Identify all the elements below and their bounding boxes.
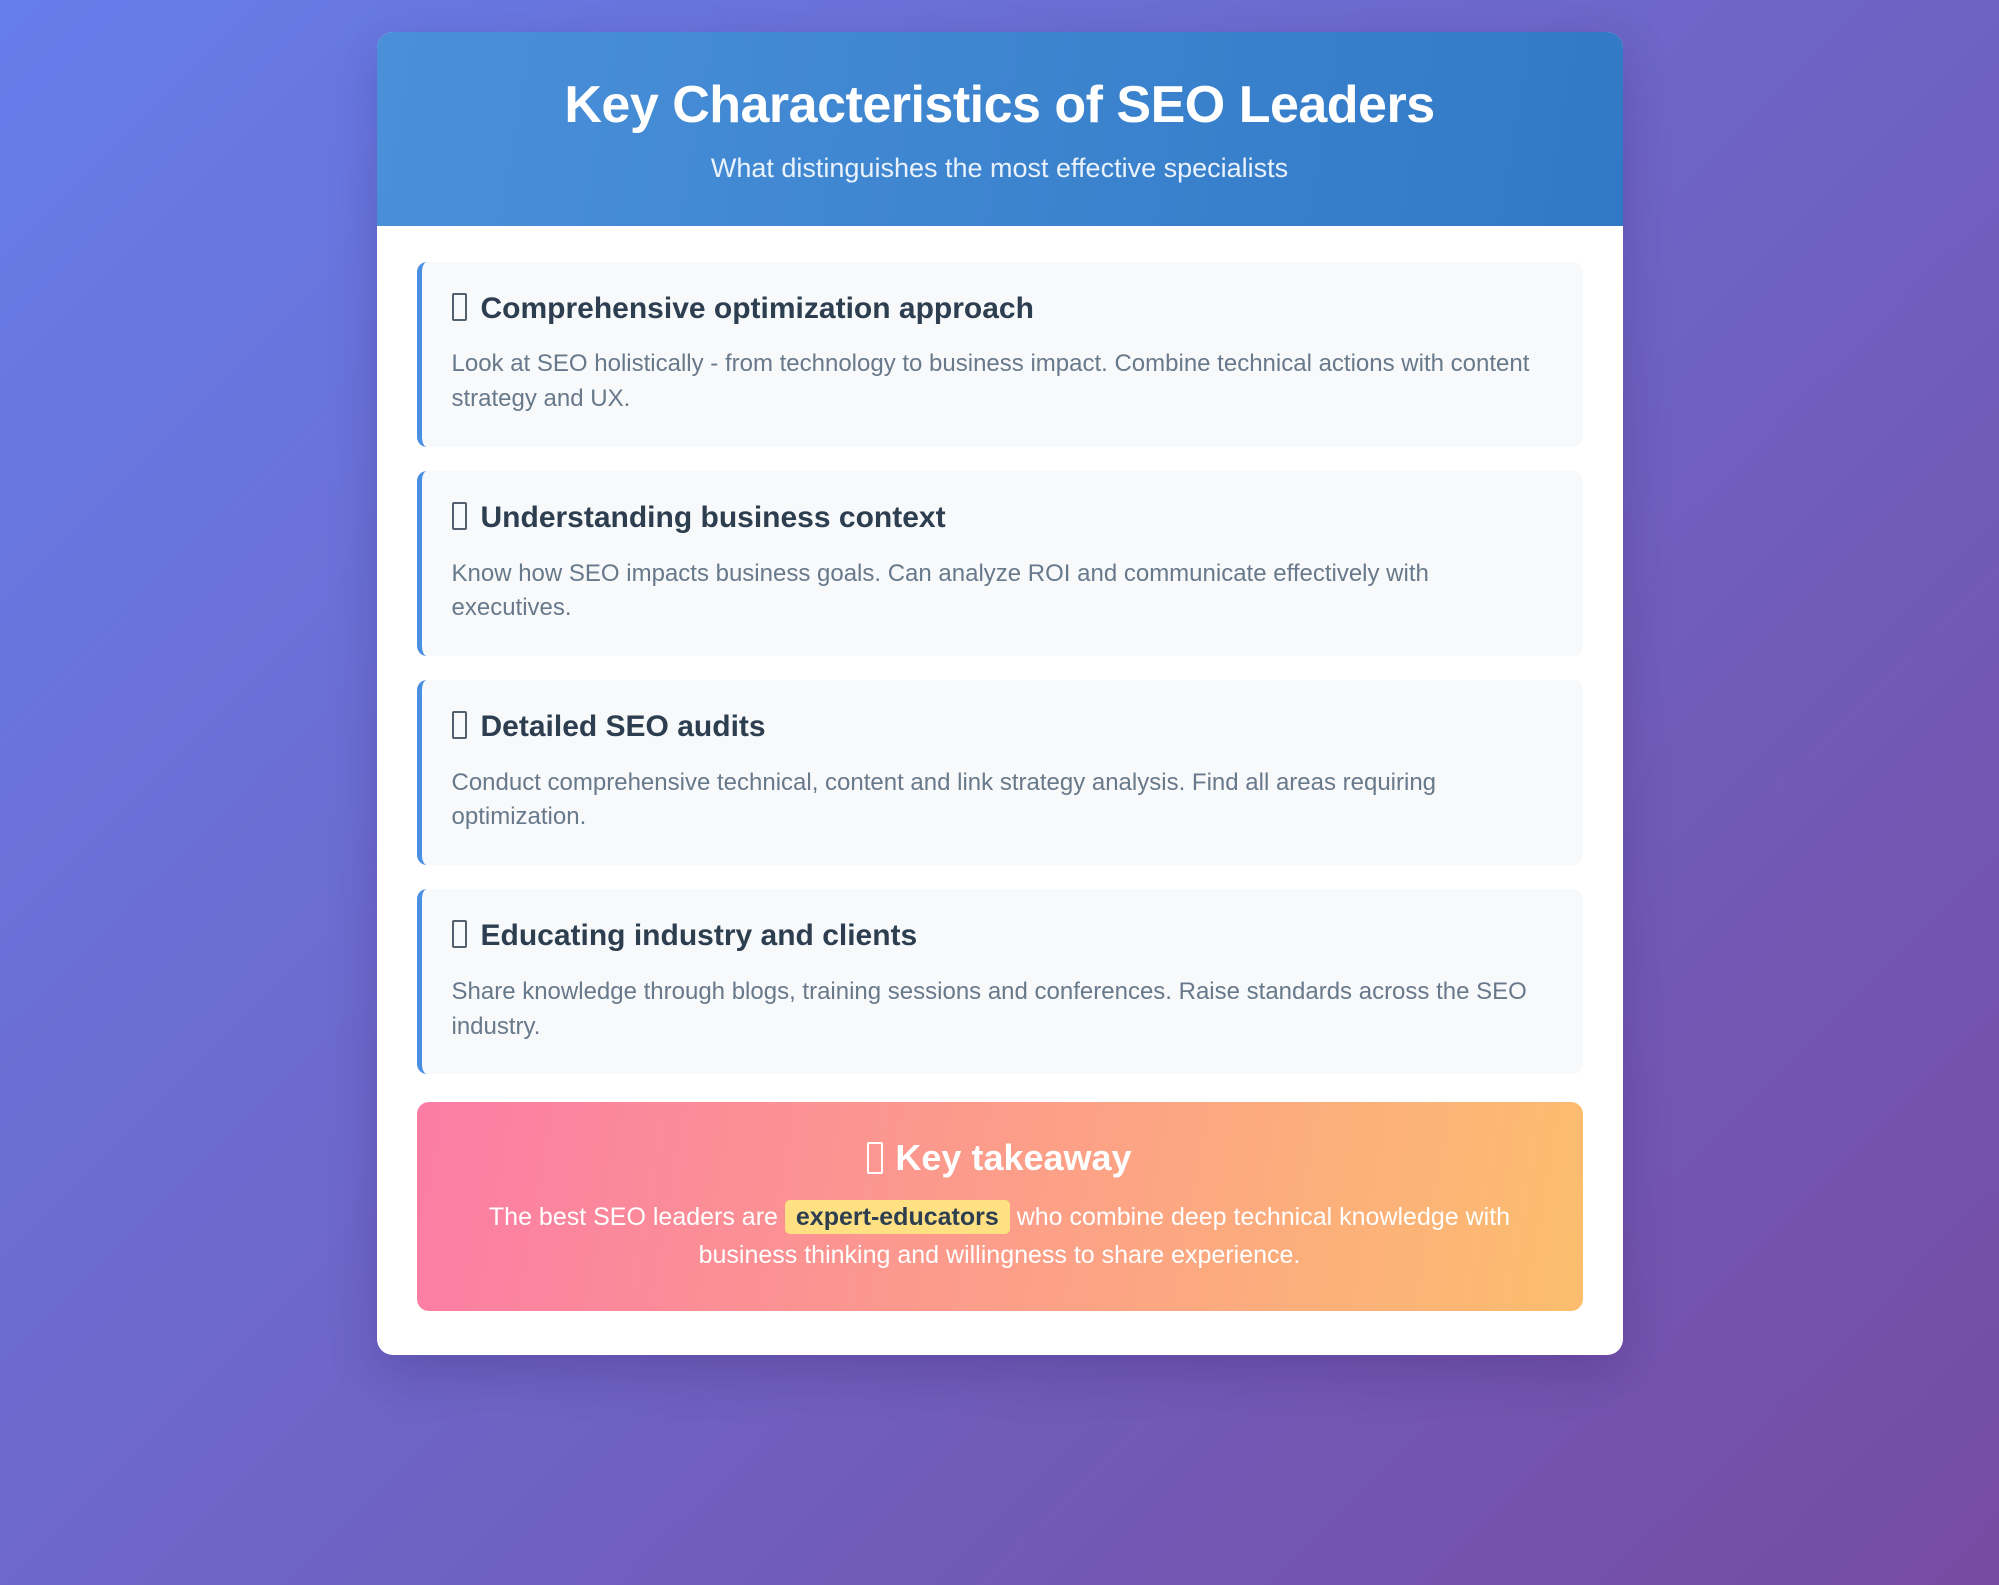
feature-description: Share knowledge through blogs, training … — [452, 975, 1542, 1045]
feature-title-row: Understanding business context — [452, 499, 1553, 537]
feature-description: Know how SEO impacts business goals. Can… — [452, 557, 1542, 627]
main-card: Key Characteristics of SEO Leaders What … — [377, 32, 1623, 1355]
takeaway-text: The best SEO leaders are expert-educator… — [457, 1198, 1543, 1276]
missing-glyph-box-icon — [452, 711, 467, 739]
feature-card: Detailed SEO audits Conduct comprehensiv… — [417, 680, 1583, 865]
feature-title-text: Comprehensive optimization approach — [481, 290, 1034, 328]
feature-title-text: Understanding business context — [481, 499, 946, 537]
feature-title-row: Educating industry and clients — [452, 917, 1553, 955]
missing-glyph-box-icon — [452, 502, 467, 530]
key-takeaway-panel: Key takeaway The best SEO leaders are ex… — [417, 1102, 1583, 1311]
takeaway-title-row: Key takeaway — [457, 1136, 1543, 1179]
feature-description: Look at SEO holistically - from technolo… — [452, 347, 1542, 417]
feature-title-row: Detailed SEO audits — [452, 708, 1553, 746]
feature-card: Educating industry and clients Share kno… — [417, 889, 1583, 1074]
feature-description: Conduct comprehensive technical, content… — [452, 766, 1542, 836]
feature-title-row: Comprehensive optimization approach — [452, 290, 1553, 328]
page-subtitle: What distinguishes the most effective sp… — [417, 152, 1583, 186]
takeaway-title-text: Key takeaway — [895, 1136, 1131, 1179]
feature-card: Comprehensive optimization approach Look… — [417, 262, 1583, 447]
feature-title-text: Detailed SEO audits — [481, 708, 766, 746]
card-header: Key Characteristics of SEO Leaders What … — [377, 32, 1623, 226]
card-body: Comprehensive optimization approach Look… — [377, 226, 1623, 1355]
feature-card: Understanding business context Know how … — [417, 471, 1583, 656]
page-title: Key Characteristics of SEO Leaders — [417, 76, 1583, 134]
missing-glyph-box-icon — [452, 293, 467, 321]
missing-glyph-box-icon — [452, 920, 467, 948]
takeaway-text-before: The best SEO leaders are — [489, 1203, 778, 1231]
missing-glyph-box-icon — [867, 1142, 883, 1174]
feature-title-text: Educating industry and clients — [481, 917, 918, 955]
takeaway-highlight: expert-educators — [785, 1200, 1010, 1234]
